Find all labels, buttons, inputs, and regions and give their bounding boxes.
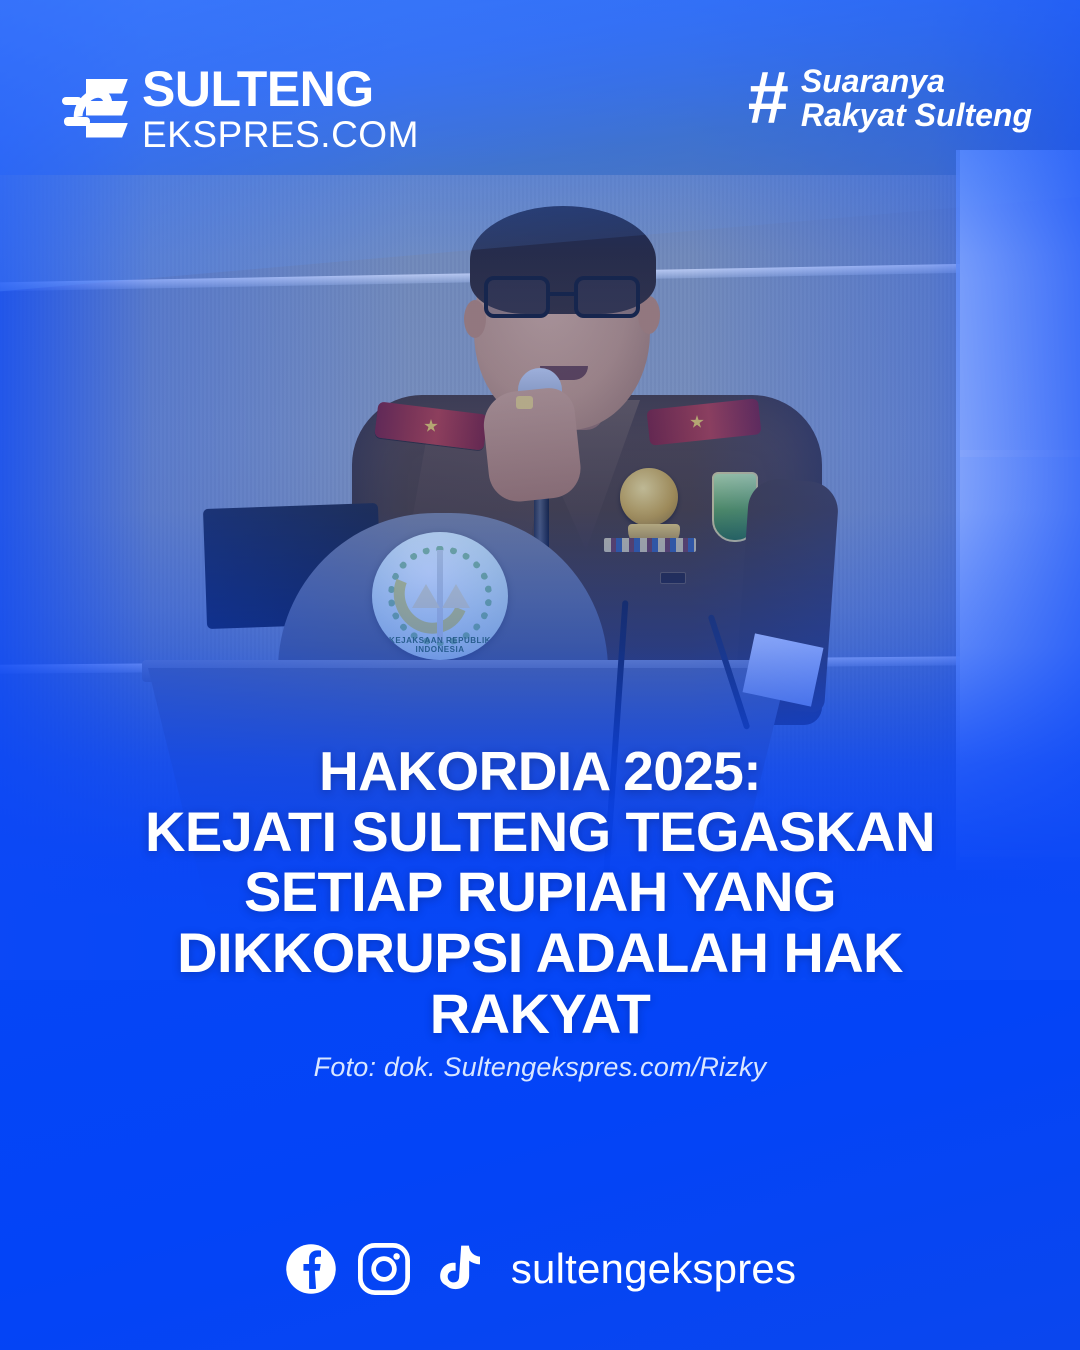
headline-line-5: RAKYAT [56, 984, 1024, 1045]
sulteng-speed-s-logo-icon [62, 75, 128, 143]
tagline-text: Suaranya Rakyat Sulteng [801, 64, 1032, 132]
photo-credit: Foto: dok. Sultengekspres.com/Rizky [0, 1052, 1080, 1083]
poster-header: SULTENG EKSPRES.COM # Suaranya Rakyat Su… [0, 0, 1080, 170]
hashtag-icon: # [747, 69, 788, 127]
logo-text-secondary: EKSPRES.COM [142, 116, 419, 153]
headline-line-4: DIKKORUPSI ADALAH HAK [56, 923, 1024, 984]
social-handle[interactable]: sultengekspres [511, 1245, 796, 1293]
facebook-icon[interactable] [284, 1242, 338, 1296]
headline-line-1: HAKORDIA 2025: [56, 742, 1024, 802]
tagline-block: # Suaranya Rakyat Sulteng [747, 64, 1032, 132]
tiktok-icon[interactable] [430, 1242, 480, 1296]
headline-line-3: SETIAP RUPIAH YANG [56, 862, 1024, 923]
logo-text-primary: SULTENG [142, 64, 419, 114]
instagram-icon[interactable] [357, 1242, 411, 1296]
tagline-line-2: Rakyat Sulteng [801, 98, 1032, 132]
headline-line-2: KEJATI SULTENG TEGASKAN [56, 802, 1024, 863]
tagline-line-1: Suaranya [801, 64, 1032, 98]
site-logo[interactable]: SULTENG EKSPRES.COM [62, 64, 419, 153]
social-media-poster: KEJAKSAAN REPUBLIK INDONESIA SUL [0, 0, 1080, 1350]
social-footer: sultengekspres [0, 1228, 1080, 1310]
headline: HAKORDIA 2025: KEJATI SULTENG TEGASKAN S… [0, 742, 1080, 1045]
